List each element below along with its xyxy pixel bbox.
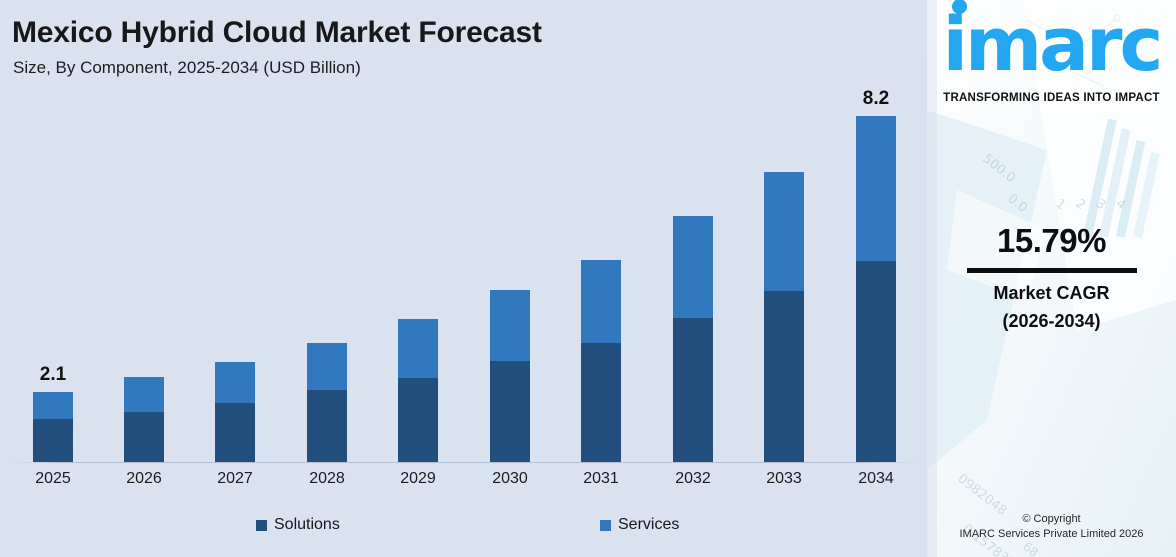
bar-segment-services xyxy=(215,362,255,403)
copyright-line-1: © Copyright xyxy=(927,512,1176,527)
bar-segment-services xyxy=(673,216,713,318)
bar-segment-solutions xyxy=(124,412,164,462)
bar-segment-services xyxy=(581,260,621,343)
bar-segment-solutions xyxy=(33,419,73,462)
logo-dot-icon xyxy=(952,0,967,14)
bar-2025 xyxy=(33,392,73,462)
imarc-logo: imarc TRANSFORMING IDEAS INTO IMPACT xyxy=(927,8,1176,104)
x-tick-2027: 2027 xyxy=(195,470,275,488)
bar-2033 xyxy=(764,172,804,462)
cagr-label: Market CAGR xyxy=(927,283,1176,304)
bar-segment-services xyxy=(307,343,347,390)
bar-segment-solutions xyxy=(673,318,713,462)
bar-segment-services xyxy=(764,172,804,291)
bar-2034 xyxy=(856,116,896,462)
x-tick-2028: 2028 xyxy=(287,470,367,488)
x-tick-2033: 2033 xyxy=(744,470,824,488)
cagr-divider xyxy=(967,268,1137,273)
bar-2029 xyxy=(398,319,438,462)
x-tick-2030: 2030 xyxy=(470,470,550,488)
bar-segment-services xyxy=(124,377,164,412)
chart-panel: Mexico Hybrid Cloud Market Forecast Size… xyxy=(0,0,927,557)
bar-segment-solutions xyxy=(856,261,896,462)
x-tick-2025: 2025 xyxy=(13,470,93,488)
bar-segment-services xyxy=(856,116,896,261)
brand-panel: 500.0 0.0 1 2 3 4 0982048 0.15783714 68 … xyxy=(927,0,1176,557)
x-tick-2032: 2032 xyxy=(653,470,733,488)
logo-tagline: TRANSFORMING IDEAS INTO IMPACT xyxy=(927,92,1176,104)
logo-wordmark: imarc xyxy=(943,8,1161,82)
chart-screenshot: Mexico Hybrid Cloud Market Forecast Size… xyxy=(0,0,1176,557)
x-tick-2029: 2029 xyxy=(378,470,458,488)
bar-2031 xyxy=(581,260,621,462)
bar-segment-solutions xyxy=(490,361,530,462)
legend-swatch-icon xyxy=(600,520,611,531)
legend-swatch-icon xyxy=(256,520,267,531)
bar-segment-solutions xyxy=(581,343,621,462)
legend-item-services[interactable]: Services xyxy=(600,516,679,534)
bars-layer: 2.18.2 xyxy=(0,0,927,462)
bar-2026 xyxy=(124,377,164,462)
bar-segment-solutions xyxy=(215,403,255,462)
copyright-line-2: IMARC Services Private Limited 2026 xyxy=(927,527,1176,542)
copyright-notice: © Copyright IMARC Services Private Limit… xyxy=(927,512,1176,542)
plot-area: 2.18.2 xyxy=(0,0,927,470)
bar-segment-services xyxy=(398,319,438,378)
x-tick-2026: 2026 xyxy=(104,470,184,488)
legend-item-solutions[interactable]: Solutions xyxy=(256,516,340,534)
bar-2027 xyxy=(215,362,255,462)
x-tick-2031: 2031 xyxy=(561,470,641,488)
bar-segment-services xyxy=(490,290,530,361)
axis-baseline xyxy=(8,462,918,463)
bar-2030 xyxy=(490,290,530,462)
x-axis-ticks: 2025202620272028202920302031203220332034 xyxy=(0,470,927,500)
legend-label: Services xyxy=(618,516,679,534)
bar-segment-services xyxy=(33,392,73,419)
legend-label: Solutions xyxy=(274,516,340,534)
bar-2028 xyxy=(307,343,347,462)
bar-2032 xyxy=(673,216,713,462)
bar-segment-solutions xyxy=(764,291,804,462)
logo-text: imarc xyxy=(943,2,1161,88)
cagr-period: (2026-2034) xyxy=(927,311,1176,332)
chart-legend: SolutionsServices xyxy=(0,516,927,546)
bar-segment-solutions xyxy=(307,390,347,462)
bar-value-label-2034: 8.2 xyxy=(863,88,889,110)
bar-value-label-2025: 2.1 xyxy=(40,364,66,386)
x-tick-2034: 2034 xyxy=(836,470,916,488)
bar-segment-solutions xyxy=(398,378,438,462)
cagr-value: 15.79% xyxy=(927,222,1176,260)
